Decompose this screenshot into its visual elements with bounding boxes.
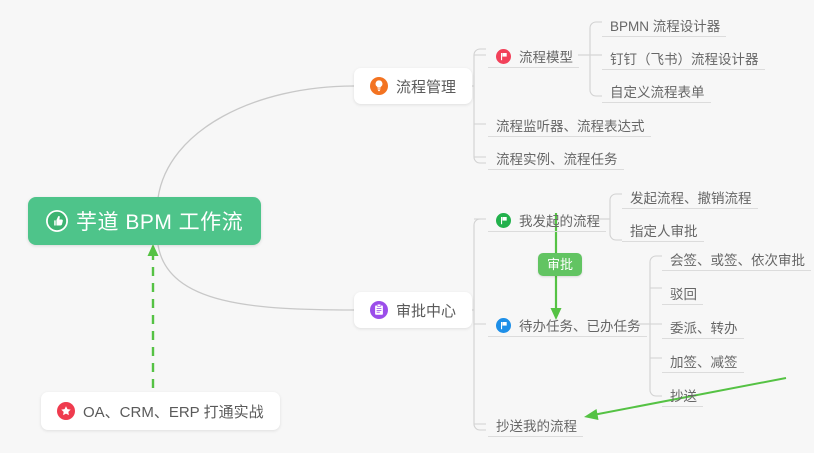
node-label: 指定人审批 <box>630 225 698 239</box>
node-label: 流程实例、流程任务 <box>496 153 618 167</box>
wire-todo-children-stubs <box>650 288 662 358</box>
node-label: 待办任务、已办任务 <box>519 320 641 334</box>
node-label: 流程模型 <box>519 51 573 65</box>
node-cc-to-me-process[interactable]: 抄送我的流程 <box>488 407 583 437</box>
node-cc[interactable]: 抄送 <box>662 377 703 407</box>
root-label: 芋道 BPM 工作流 <box>76 206 243 236</box>
node-label: 我发起的流程 <box>519 215 600 229</box>
node-process-model[interactable]: 流程模型 <box>488 38 579 68</box>
footnote-label: OA、CRM、ERP 打通实战 <box>83 401 264 422</box>
wire-ac-bracket <box>474 219 486 430</box>
node-add-remove-sign[interactable]: 加签、减签 <box>662 343 744 373</box>
wire-pm-children-stubs <box>474 55 486 157</box>
mindmap-canvas: 芋道 BPM 工作流 OA、CRM、ERP 打通实战 流程管理 <box>0 0 814 453</box>
node-label: 钉钉（飞书）流程设计器 <box>610 53 759 67</box>
node-dingtalk-feishu-designer[interactable]: 钉钉（飞书）流程设计器 <box>602 40 765 70</box>
wire-model-bracket <box>590 22 602 96</box>
thumbs-up-icon <box>46 210 68 232</box>
footnote-node[interactable]: OA、CRM、ERP 打通实战 <box>41 392 280 430</box>
root-node[interactable]: 芋道 BPM 工作流 <box>28 197 261 245</box>
node-start-cancel-process[interactable]: 发起流程、撤销流程 <box>622 179 758 209</box>
node-my-initiated-process[interactable]: 我发起的流程 <box>488 202 606 232</box>
wire-root-to-approval-center <box>158 245 354 310</box>
node-label: 流程监听器、流程表达式 <box>496 120 645 134</box>
node-custom-process-form[interactable]: 自定义流程表单 <box>602 73 711 103</box>
flag-red-icon <box>496 49 511 64</box>
node-countersign-or-sequential[interactable]: 会签、或签、依次审批 <box>662 241 811 271</box>
node-label: 委派、转办 <box>670 322 738 336</box>
node-label: 抄送 <box>670 390 697 404</box>
node-bpmn-designer[interactable]: BPMN 流程设计器 <box>602 7 726 37</box>
wire-ac-children-stubs <box>474 219 486 424</box>
flag-green-icon <box>496 213 511 228</box>
node-label: BPMN 流程设计器 <box>610 20 720 34</box>
node-label: 加签、减签 <box>670 356 738 370</box>
node-process-instance-task[interactable]: 流程实例、流程任务 <box>488 140 624 170</box>
branch-process-management[interactable]: 流程管理 <box>354 68 472 104</box>
wire-pm-bracket <box>474 49 486 163</box>
node-label: 抄送我的流程 <box>496 420 577 434</box>
wire-mine-bracket <box>610 194 622 240</box>
branch-approval-center[interactable]: 审批中心 <box>354 292 472 328</box>
wire-todo-bracket <box>650 256 662 396</box>
flag-blue-icon <box>496 318 511 333</box>
node-todo-done-tasks[interactable]: 待办任务、已办任务 <box>488 307 647 337</box>
node-delegate-transfer[interactable]: 委派、转办 <box>662 309 744 339</box>
node-label: 驳回 <box>670 288 697 302</box>
annotation-label: 审批 <box>547 257 573 272</box>
node-process-listener-expression[interactable]: 流程监听器、流程表达式 <box>488 107 651 137</box>
annotation-approval-chip: 审批 <box>538 253 582 276</box>
node-reject[interactable]: 驳回 <box>662 275 703 305</box>
node-designated-approver[interactable]: 指定人审批 <box>622 212 704 242</box>
node-label: 发起流程、撤销流程 <box>630 192 752 206</box>
node-label: 自定义流程表单 <box>610 86 705 100</box>
star-icon <box>57 402 75 420</box>
wire-root-to-process-management <box>158 86 354 198</box>
clipboard-icon <box>370 301 388 319</box>
branch-label: 审批中心 <box>396 300 456 321</box>
branch-label: 流程管理 <box>396 76 456 97</box>
arrow-footnote-to-root <box>148 244 159 388</box>
node-label: 会签、或签、依次审批 <box>670 254 805 268</box>
lightbulb-icon <box>370 77 388 95</box>
